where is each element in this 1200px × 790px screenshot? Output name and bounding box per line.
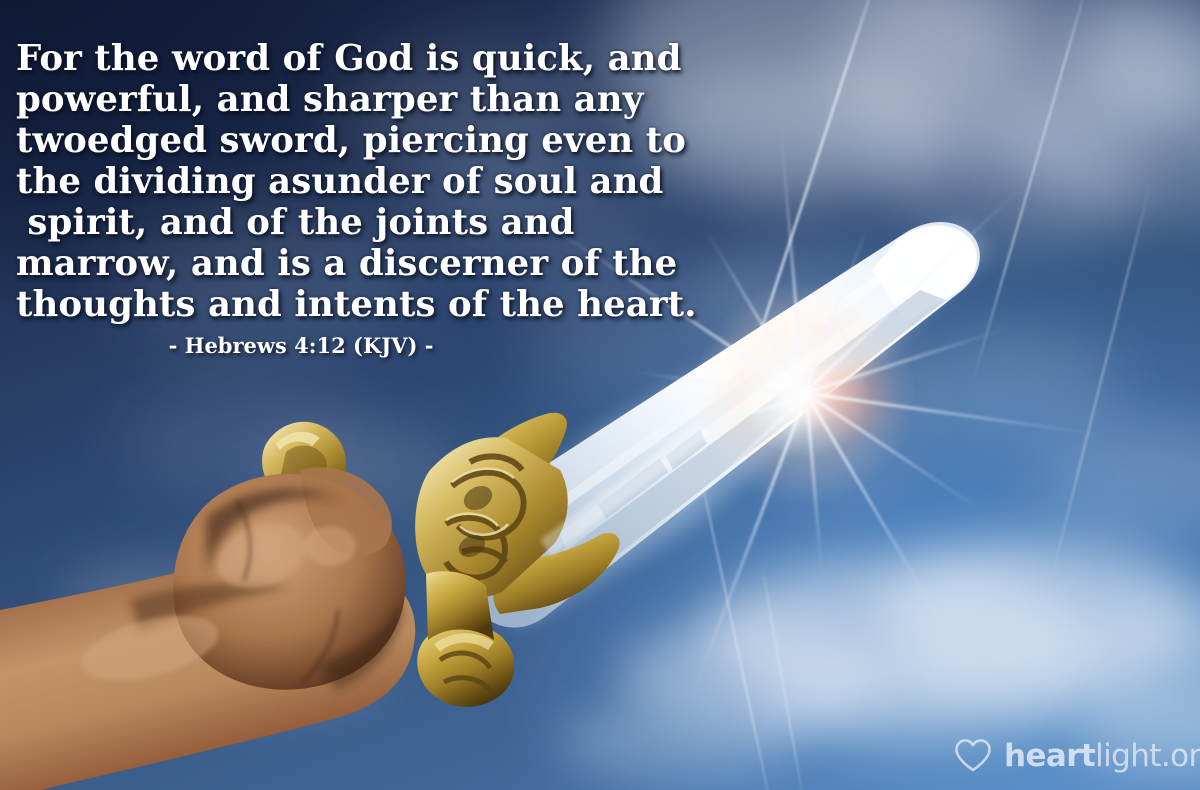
verse-text: For the word of God is quick, andpowerfu…: [16, 38, 586, 325]
heart-outline-icon: [953, 738, 993, 774]
verse-line-2: powerful, and sharper than any: [16, 79, 586, 120]
verse-line-3: twoedged sword, piercing even to: [16, 120, 586, 161]
hand-and-forearm: [0, 468, 415, 790]
heartlight-logo[interactable]: heartlight.org: [953, 738, 1200, 774]
verse-line-6: marrow, and is a discerner of the: [16, 243, 586, 284]
verse-line-4: the dividing asunder of soul and: [16, 161, 586, 202]
verse-line-5: spirit, and of the joints and: [16, 202, 586, 243]
verse-line-7: thoughts and intents of the heart.: [16, 284, 586, 325]
verse-block: For the word of God is quick, andpowerfu…: [16, 38, 586, 358]
verse-image-canvas: For the word of God is quick, andpowerfu…: [0, 0, 1200, 790]
verse-reference: - Hebrews 4:12 (KJV) -: [16, 334, 586, 358]
logo-light-text: light.org: [1095, 738, 1200, 774]
logo-bold-text: heart: [1004, 738, 1095, 774]
verse-line-1: For the word of God is quick, and: [16, 38, 586, 79]
heartlight-wordmark: heartlight.org: [1004, 741, 1200, 772]
